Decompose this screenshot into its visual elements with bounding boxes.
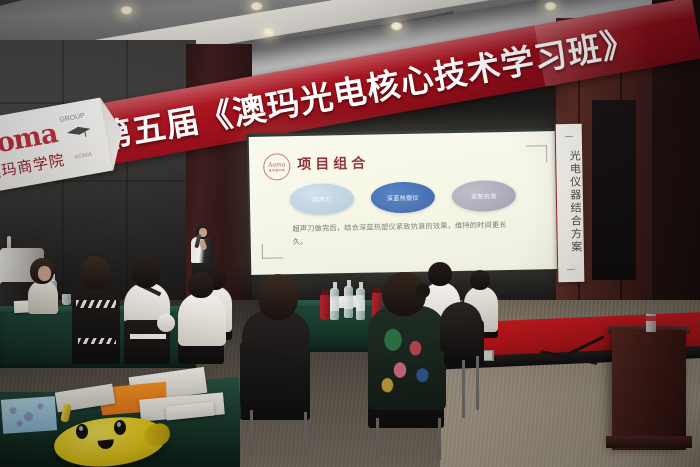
blue-brochure bbox=[1, 396, 57, 434]
helmet bbox=[157, 314, 175, 332]
seal-sub-text: 澳玛商学院 bbox=[269, 169, 286, 172]
dress-pattern bbox=[78, 338, 116, 344]
attendee-body bbox=[440, 302, 482, 352]
attendee-face bbox=[38, 266, 51, 281]
water-bottle bbox=[344, 286, 353, 318]
slide-bubble-group: 超声刀 深蓝热塑仪 紧致抗衰 bbox=[290, 178, 521, 216]
attendee-body bbox=[178, 292, 226, 346]
attendee-head bbox=[132, 258, 160, 288]
red-bottle bbox=[320, 294, 330, 320]
chair-leg bbox=[438, 418, 441, 460]
water-bottle bbox=[330, 288, 339, 320]
logo-trademark-text: GROUP bbox=[59, 113, 86, 124]
slide-bubble-2-label: 深蓝热塑仪 bbox=[387, 192, 419, 202]
projection-screen: Aoma 澳玛商学院 项目组合 超声刀 深蓝热塑仪 紧致抗衰 超声刀做完后，结合… bbox=[249, 131, 560, 275]
ceiling-downlight bbox=[250, 2, 263, 11]
attendee-head bbox=[258, 274, 298, 320]
plush-right-eye-icon bbox=[114, 420, 126, 435]
slide-corner-bracket-bottom-left bbox=[262, 243, 283, 258]
conference-room-photo: 第五届《澳玛光电核心技术学习班》 Aoma GROUP 澳玛商学院 AOMA A… bbox=[0, 0, 700, 467]
skirt-trim bbox=[130, 334, 166, 339]
slide-title: 项目组合 bbox=[297, 153, 369, 174]
floral-pattern bbox=[372, 318, 442, 402]
drinking-cup bbox=[62, 294, 71, 305]
chair-leg bbox=[476, 356, 479, 410]
graduation-cap-icon bbox=[65, 124, 93, 141]
slide-bubble-1: 超声刀 bbox=[290, 182, 355, 214]
chair-leg bbox=[250, 410, 253, 456]
slide-bubble-3-label: 紧致抗衰 bbox=[471, 191, 497, 200]
chair-leg bbox=[462, 360, 465, 418]
logo-sub-latin: AOMA bbox=[74, 152, 92, 161]
plush-left-eye-icon bbox=[76, 424, 88, 439]
slide-seal-logo: Aoma 澳玛商学院 bbox=[263, 153, 291, 181]
attendee-head bbox=[188, 272, 214, 298]
attendee-head bbox=[428, 262, 452, 286]
wooden-lectern bbox=[612, 330, 686, 450]
attendee-body bbox=[28, 280, 58, 314]
slide-bubble-3: 紧致抗衰 bbox=[452, 179, 517, 211]
hair-bun bbox=[416, 284, 430, 298]
aoma-logo: Aoma GROUP 澳玛商学院 AOMA bbox=[0, 98, 113, 196]
seal-brand-text: Aoma bbox=[268, 162, 285, 168]
attendee-head bbox=[80, 256, 110, 290]
slide-bubble-2: 深蓝热塑仪 bbox=[371, 181, 436, 213]
wall-niche bbox=[592, 100, 636, 280]
lectern-base bbox=[606, 436, 692, 448]
chair-leg bbox=[304, 412, 307, 456]
slide-bubble-1-label: 超声刀 bbox=[312, 194, 331, 203]
ceiling-downlight bbox=[120, 6, 133, 15]
water-bottle bbox=[356, 288, 365, 320]
side-title-panel: 光电仪器结合方案 bbox=[555, 124, 585, 282]
chair-leg bbox=[376, 418, 379, 460]
beverage-can bbox=[646, 314, 656, 332]
dress-pattern bbox=[76, 300, 116, 308]
slide-body-text: 超声刀做完后，结合深蓝热塑仪紧致抗衰的效果，维持的时间更长久。 bbox=[292, 218, 520, 249]
attendee-head bbox=[470, 270, 490, 290]
attendee-body bbox=[242, 310, 310, 406]
side-title-text: 光电仪器结合方案 bbox=[556, 150, 584, 254]
slide-corner-bracket-top-right bbox=[526, 145, 547, 162]
